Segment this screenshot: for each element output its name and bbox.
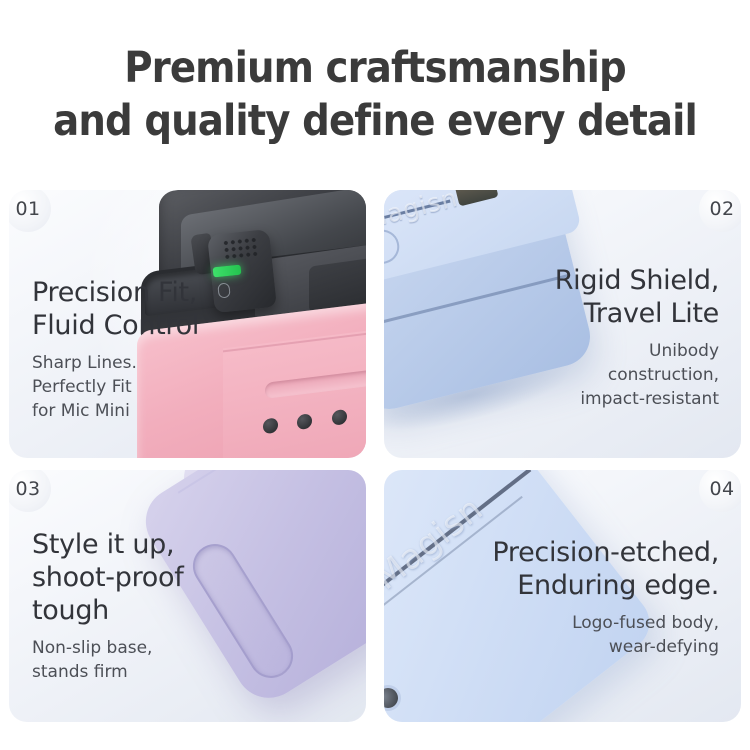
product-feature-page: Premium craftsmanship and quality define… (0, 0, 750, 750)
card-number-badge-04: 04 (699, 470, 741, 512)
card-number-badge-02: 02 (699, 190, 741, 232)
card-text-block-02: Rigid Shield, Travel Lite Unibody constr… (555, 264, 719, 411)
page-title-line-1: Premium craftsmanship (0, 42, 750, 95)
feature-card-04[interactable]: aMagisn 04 Precision-etched, Enduring ed… (384, 470, 741, 722)
card-title-01: Precision Fit, Fluid Control (32, 276, 199, 342)
card-title-04: Precision-etched, Enduring edge. (492, 536, 719, 602)
feature-card-01[interactable]: 01 Precision Fit, Fluid Control Sharp Li… (9, 190, 366, 458)
card-subtitle-02: Unibody construction, impact-resistant (555, 339, 719, 411)
card-text-block-01: Precision Fit, Fluid Control Sharp Lines… (32, 276, 199, 423)
card-title-02: Rigid Shield, Travel Lite (555, 264, 719, 330)
card-title-03: Style it up, shoot-proof tough (32, 528, 183, 627)
feature-card-grid: 01 Precision Fit, Fluid Control Sharp Li… (9, 190, 741, 722)
page-title: Premium craftsmanship and quality define… (0, 0, 750, 148)
feature-card-03[interactable]: 03 Style it up, shoot-proof tough Non-sl… (9, 470, 366, 722)
card-text-block-03: Style it up, shoot-proof tough Non-slip … (32, 528, 183, 684)
feature-card-02[interactable]: aMagisn 02 Rigid Shield, Travel Lite Uni… (384, 190, 741, 458)
mic-grill-icon (222, 236, 258, 259)
page-title-line-2: and quality define every detail (0, 95, 750, 148)
card-subtitle-04: Logo-fused body, wear-defying (492, 611, 719, 659)
card-text-block-04: Precision-etched, Enduring edge. Logo-fu… (492, 536, 719, 659)
card-subtitle-01: Sharp Lines. Perfectly Fit for Mic Mini (32, 351, 199, 423)
card-subtitle-03: Non-slip base, stands firm (32, 636, 183, 684)
